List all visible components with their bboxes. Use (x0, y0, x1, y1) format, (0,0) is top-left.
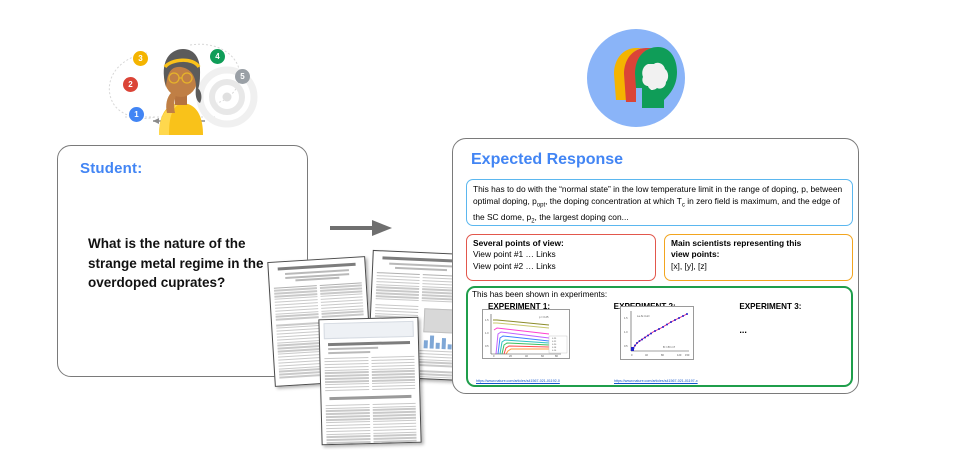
experiment-1-url[interactable]: https://www.nature.com/articles/s41567-0… (476, 379, 560, 383)
svg-text:La-Sr-CuO: La-Sr-CuO (637, 314, 650, 318)
response-summary-box: This has to do with the “normal state” i… (466, 179, 853, 226)
illus-dot-2: 2 (123, 77, 138, 92)
points-of-view-item-1[interactable]: View point #1 … Links (467, 249, 655, 260)
points-of-view-heading: Several points of view: (467, 235, 655, 249)
svg-text:0.5: 0.5 (485, 344, 489, 348)
expected-response-title: Expected Response (471, 151, 623, 169)
paper-thumbnail-3 (318, 317, 421, 446)
response-summary-text: This has to do with the “normal state” i… (467, 180, 852, 226)
points-of-view-box: Several points of view: View point #1 … … (466, 234, 656, 281)
expected-response-card: Expected Response This has to do with th… (452, 138, 859, 394)
brain-head-icon-svg (586, 28, 686, 128)
experiment-2-chart: 1.51.00.5 04080 120150 La-Sr-CuO B = 80 … (620, 306, 694, 360)
brain-head-icon (586, 28, 686, 128)
student-label: Student: (80, 160, 142, 177)
flow-arrow-icon (330, 218, 392, 238)
experiment-column-3: EXPERIMENT 3: ... (723, 302, 849, 335)
svg-text:1.5: 1.5 (485, 318, 489, 322)
svg-text:1.0: 1.0 (624, 330, 628, 334)
points-of-view-item-2[interactable]: View point #2 … Links (467, 261, 655, 272)
experiment-1-chart: 1.51.00.5 02040 6080 p = 0.25 0.250.22 0… (482, 309, 570, 359)
student-thinking-illustration: 2 1 3 4 5 (95, 25, 275, 135)
paper-thumbnails-group (262, 250, 462, 450)
svg-text:1.5: 1.5 (624, 316, 628, 320)
experiment-3-placeholder: ... (723, 311, 849, 335)
illus-dot-1: 1 (129, 107, 144, 122)
svg-text:120: 120 (677, 353, 682, 357)
illus-dot-3: 3 (133, 51, 148, 66)
svg-text:150: 150 (685, 353, 690, 357)
experiment-3-label: EXPERIMENT 3: (723, 302, 849, 311)
svg-text:1.0: 1.0 (485, 331, 489, 335)
svg-text:0.5: 0.5 (624, 344, 628, 348)
slide-canvas: 2 1 3 4 5 Student: What is the nature of… (0, 0, 960, 450)
main-scientists-names: [x], [y], [z] (665, 261, 852, 272)
experiment-2-chart-svg: 1.51.00.5 04080 120150 La-Sr-CuO B = 80 … (621, 307, 693, 359)
illus-dot-4: 4 (210, 49, 225, 64)
main-scientists-box: Main scientists representing this view p… (664, 234, 853, 281)
illus-dot-5: 5 (235, 69, 250, 84)
experiments-box: This has been shown in experiments: EXPE… (466, 286, 853, 387)
flow-arrow-svg (330, 218, 392, 238)
main-scientists-heading-line1: Main scientists representing this (665, 235, 852, 249)
experiment-2-url[interactable]: https://www.nature.com/articles/s41567-0… (614, 379, 698, 383)
experiment-1-chart-svg: 1.51.00.5 02040 6080 p = 0.25 0.250.22 0… (483, 310, 569, 358)
experiments-heading: This has been shown in experiments: (468, 288, 851, 299)
student-question-text: What is the nature of the strange metal … (88, 234, 288, 293)
svg-text:p = 0.25: p = 0.25 (539, 315, 549, 319)
main-scientists-heading-line2: view points: (665, 249, 852, 260)
svg-text:B = 80 mT: B = 80 mT (663, 345, 675, 349)
